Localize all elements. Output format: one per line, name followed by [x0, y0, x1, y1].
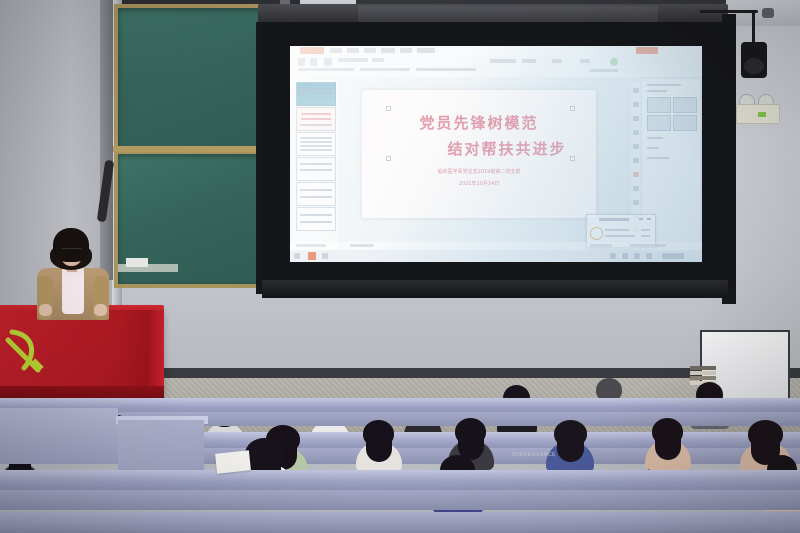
slide-thumbnail[interactable] [296, 132, 336, 156]
selection-handle[interactable] [570, 156, 575, 161]
app-icon-explorer[interactable] [322, 253, 328, 259]
tray-icon[interactable] [622, 253, 628, 259]
student-head [245, 438, 284, 470]
drawing-group[interactable] [416, 68, 476, 71]
start-button-icon[interactable] [294, 253, 300, 259]
desk-row-4 [0, 512, 800, 533]
slide-counter [296, 244, 326, 247]
editing-group[interactable] [590, 69, 618, 72]
slide-subtitle-org: 临床医学系党总支2019级第二党支部 [362, 168, 596, 175]
toast-title-bar [599, 218, 629, 221]
tab-slideshow[interactable] [417, 48, 435, 53]
ribbon-toolbar[interactable] [290, 55, 702, 77]
font-name-box[interactable] [338, 58, 368, 62]
student [645, 418, 691, 466]
student [546, 420, 594, 468]
slide-subtitle-date: 2021年10月14日 [362, 180, 596, 187]
language-indicator [350, 244, 374, 247]
side-cabinet-left [0, 408, 118, 464]
status-bar[interactable] [290, 242, 702, 250]
tab-animations[interactable] [400, 48, 412, 53]
board-slide-track[interactable] [100, 0, 113, 280]
font-size-box[interactable] [372, 58, 384, 62]
paste-icon[interactable] [298, 58, 305, 66]
jacket-print-text: SURVEILLANCE [512, 452, 556, 458]
hammer-and-sickle-icon [4, 326, 48, 376]
tab-transitions[interactable] [381, 48, 395, 53]
quick-styles-icon[interactable] [552, 59, 562, 63]
ribbon-tab-bar[interactable] [290, 46, 702, 55]
student-head [455, 418, 486, 445]
eraser [126, 258, 148, 267]
speaker-cable-horizontal [700, 10, 758, 13]
speaker-grille-icon [744, 58, 764, 74]
font-style-group[interactable] [298, 68, 354, 71]
tab-design[interactable] [364, 48, 376, 53]
speaker-cable-vertical [752, 12, 755, 44]
eyeglasses-icon [61, 248, 82, 255]
desk-row-3-front [0, 490, 800, 510]
slide-thumbnail[interactable] [296, 182, 336, 206]
student-head [748, 420, 783, 448]
tray-icon[interactable] [646, 253, 652, 259]
screen-bottom-weight-bar [262, 280, 728, 298]
app-icon-ppt[interactable] [308, 252, 316, 260]
speaker-hair [53, 228, 89, 262]
student-head [652, 418, 683, 445]
classroom-photo: 党员先锋树模范 结对帮扶共进步 临床医学系党总支2019级第二党支部 2021年… [0, 0, 800, 533]
arrange-icon[interactable] [522, 59, 536, 63]
selection-handle[interactable] [570, 106, 575, 111]
clock[interactable] [662, 253, 684, 259]
student-head [363, 420, 394, 447]
view-buttons[interactable] [590, 244, 612, 247]
slide-thumbnail[interactable] [296, 107, 336, 131]
emergency-light-indicator [758, 112, 766, 117]
find-icon[interactable] [580, 59, 590, 63]
desk-row-3 [0, 470, 800, 492]
paragraph-group[interactable] [360, 68, 410, 71]
slide-canvas[interactable]: 党员先锋树模范 结对帮扶共进步 临床医学系党总支2019级第二党支部 2021年… [362, 90, 596, 218]
slide-thumbnail[interactable] [296, 82, 336, 106]
slide-thumbnail[interactable] [296, 207, 336, 231]
tray-icon[interactable] [634, 253, 640, 259]
slide-thumbnail-pane[interactable] [292, 79, 338, 251]
slide-title-line-2: 结对帮扶共进步 [362, 138, 624, 159]
tab-insert[interactable] [347, 48, 359, 53]
shapes-gallery[interactable] [490, 59, 516, 63]
selection-handle[interactable] [386, 156, 391, 161]
slide-title-line-1: 党员先锋树模范 [362, 112, 596, 133]
new-slide-icon[interactable] [310, 58, 317, 66]
toast-progress-icon [590, 227, 603, 240]
selection-handle[interactable] [386, 106, 391, 111]
tray-icon[interactable] [610, 253, 616, 259]
projected-presentation-app[interactable]: 党员先锋树模范 结对帮扶共进步 临床医学系党总支2019级第二党支部 2021年… [290, 46, 702, 262]
speaker-hand-right [94, 304, 107, 316]
podium-drape-fold [148, 310, 164, 396]
tab-file[interactable] [300, 47, 324, 54]
tab-home[interactable] [330, 48, 342, 53]
zoom-slider[interactable] [630, 244, 666, 247]
slide-thumbnail[interactable] [296, 157, 336, 181]
windows-taskbar[interactable] [290, 250, 702, 262]
layout-icon[interactable] [324, 58, 332, 66]
design-ideas-icon[interactable] [610, 58, 618, 66]
student-head [554, 420, 587, 447]
tab-design-highlight[interactable] [636, 47, 658, 54]
ceiling-camera [762, 8, 774, 18]
student [356, 420, 402, 468]
handout-papers [215, 450, 251, 473]
speaker-hand-left [39, 304, 52, 316]
